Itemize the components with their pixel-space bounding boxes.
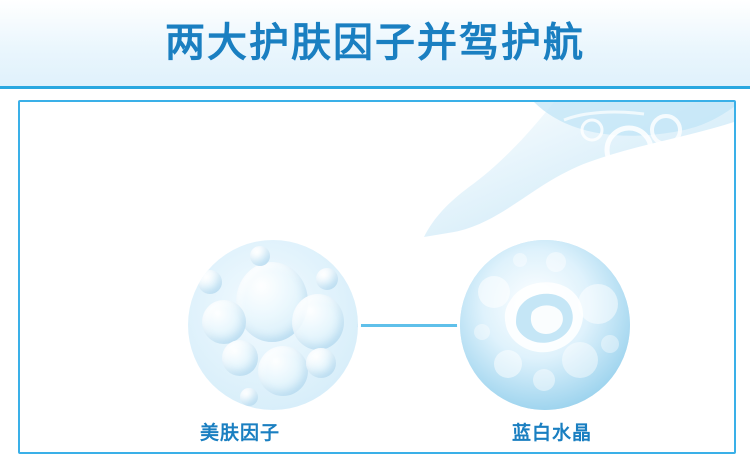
header-divider [0, 86, 750, 89]
header-band: 两大护肤因子并驾护航 [0, 0, 750, 88]
skin-bubbles-circle [188, 240, 358, 410]
column-right-title: 蓝白水晶 [418, 420, 686, 446]
crystal-graphic [460, 240, 630, 410]
promo-banner: 两大护肤因子并驾护航 [0, 0, 750, 466]
column-left-title: 美肤因子 [106, 420, 374, 446]
column-left: 美肤因子 滤芯添加的美肤因子，能加快细胞的代谢速度，让您感受由暗黄到凝脂的完美体… [106, 420, 374, 454]
blue-white-crystal-circle [460, 240, 630, 410]
water-splash-icon [414, 102, 734, 252]
page-title: 两大护肤因子并驾护航 [0, 16, 750, 70]
column-right: 蓝白水晶 滤芯添加的蓝白水晶是一种能量介质，能够将水活化，增强水的护肤效果。 [418, 420, 686, 454]
content-frame: 美肤因子 滤芯添加的美肤因子，能加快细胞的代谢速度，让您感受由暗黄到凝脂的完美体… [18, 100, 736, 454]
